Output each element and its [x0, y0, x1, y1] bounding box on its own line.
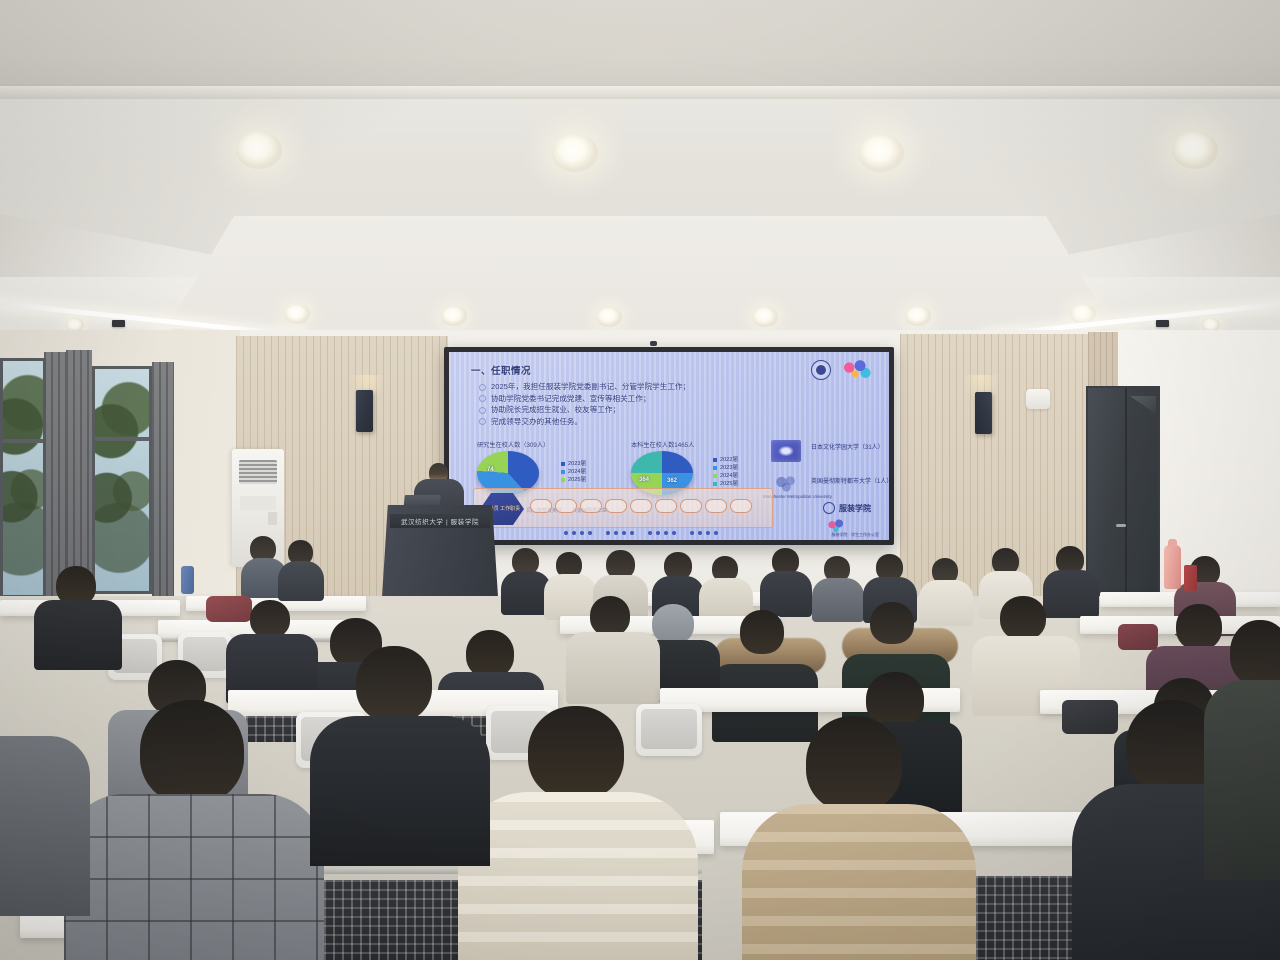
torso: [0, 736, 90, 916]
footer-chip: [555, 499, 577, 513]
track-light-head: [112, 320, 125, 327]
window-mullion: [3, 439, 43, 443]
chart-legend-undergraduate: 2022届 2023届 2024届 2025届: [713, 456, 738, 488]
partner-logo-bunka-icon: [771, 440, 801, 462]
lectern-nameplate: 武汉纺织大学 | 服装学院: [390, 514, 490, 528]
wall-speaker-left: [356, 390, 373, 432]
footer-dot-row: [564, 531, 718, 535]
head: [356, 646, 432, 722]
slide-brand: 服装学院: [823, 502, 871, 514]
ceiling-downlight: [858, 134, 904, 172]
head: [528, 706, 624, 800]
track-light-head: [1156, 320, 1169, 327]
head: [466, 630, 514, 678]
chart-undergraduate-enrollment: 本科生在校人数1465人 364 362: [631, 440, 694, 495]
screen-camera: [650, 341, 657, 346]
ceiling-downlight: [284, 304, 310, 324]
torso: [1204, 680, 1280, 880]
door-handle[interactable]: [1116, 524, 1126, 527]
footer-chip: [655, 499, 677, 513]
ceiling-upper-plane: [0, 0, 1280, 92]
legend-item: 2024届: [561, 468, 586, 476]
backpack: [206, 596, 252, 622]
ceiling-downlight: [1172, 131, 1218, 169]
footer-chip: [705, 499, 727, 513]
presentation-slide: 一、任职情况 2025年，我担任服装学院党委副书记、分管学院学生工作； 协助学院…: [449, 352, 889, 540]
slide-heading: 一、任职情况: [471, 363, 531, 377]
head: [870, 602, 914, 644]
slide-bullet: 协助学院党委书记完成党建、宣传等相关工作；: [479, 393, 809, 405]
partner-name-manchester: 英国曼彻斯特都市大学（1人）: [811, 478, 889, 487]
tote-bag: [1062, 700, 1118, 734]
torso: [1043, 570, 1099, 618]
door-top-detail: [1130, 396, 1156, 414]
torso: [812, 578, 864, 622]
slide-bullet: 2025年，我担任服装学院党委副书记、分管学院学生工作；: [479, 381, 809, 393]
chart-graduate-enrollment: 研究生在校人数（309人） 74: [477, 440, 549, 495]
footer-chip: [605, 499, 627, 513]
ceiling-downlight: [441, 306, 467, 326]
conference-room-photo: 一、任职情况 2025年，我担任服装学院党委副书记、分管学院学生工作； 协助学院…: [0, 0, 1280, 960]
pie-slice-value: 362: [667, 478, 677, 484]
ac-grille: [239, 460, 277, 484]
window-left-far: [0, 358, 46, 598]
footer-chip: [730, 499, 752, 513]
torso: [566, 632, 660, 704]
chart-title: 研究生在校人数（309人）: [477, 440, 549, 449]
slide-bullet: 完成领导交办的其他任务。: [479, 416, 809, 428]
brand-seal-icon: [823, 502, 835, 514]
torso: [919, 580, 973, 626]
ac-control-panel[interactable]: [240, 496, 276, 510]
university-seal-icon: [811, 360, 831, 380]
window-glass: [3, 361, 43, 595]
partner-name-bunka: 日本文化学园大学（31人）: [811, 444, 884, 453]
pie-slice-value: 364: [639, 477, 649, 483]
pie-slice-value: 74: [487, 467, 494, 473]
legend-item: 2025届: [713, 480, 738, 488]
ac-badge: [268, 512, 277, 525]
legend-item: 2022届: [713, 456, 738, 464]
ceiling-downlight: [596, 307, 622, 327]
head: [806, 716, 902, 812]
window-glass: [95, 369, 149, 591]
torso: [310, 716, 490, 866]
lectern-nameplate-text: 武汉纺织大学 | 服装学院: [401, 516, 479, 526]
brand-name: 服装学院: [839, 503, 871, 514]
window-left-near: [92, 366, 152, 594]
footer-chip: [530, 499, 552, 513]
torso: [64, 794, 324, 960]
chair-back-pad: [641, 709, 697, 749]
thermos-bottle: [1164, 545, 1181, 589]
head: [590, 596, 630, 636]
handbag: [1118, 624, 1158, 650]
head: [740, 610, 784, 654]
footer-chip: [630, 499, 652, 513]
ceiling-downlight: [552, 134, 598, 172]
curtain-center: [152, 362, 174, 598]
water-bottle: [181, 566, 194, 594]
footer-chip-list: [530, 499, 752, 513]
chart-title: 本科生在校人数1465人: [631, 440, 694, 449]
torso: [458, 792, 698, 960]
entry-door[interactable]: [1086, 386, 1160, 599]
red-cup: [1184, 565, 1197, 591]
head: [1000, 596, 1046, 640]
curtain-left-middle: [66, 350, 92, 602]
ceiling-downlight: [752, 307, 778, 327]
wall-mounted-box: [1026, 389, 1050, 409]
head: [250, 600, 290, 638]
window-mullion: [95, 437, 149, 441]
wall-speaker-right: [975, 392, 992, 434]
slide-footer-text: 服装学院 · 学生工作办公室: [831, 532, 879, 538]
legend-item: 2025届: [561, 476, 586, 484]
slide-bullet-list: 2025年，我担任服装学院党委副书记、分管学院学生工作； 协助学院党委书记完成党…: [479, 381, 809, 427]
torso: [34, 600, 122, 670]
legend-item: 2024届: [713, 472, 738, 480]
footer-chip: [680, 499, 702, 513]
footer-graphic-band: 辅导员 工作职责: [473, 488, 773, 528]
torso: [544, 574, 596, 620]
torso: [742, 804, 976, 960]
torso: [278, 561, 324, 601]
footer-chip: [580, 499, 602, 513]
head: [1230, 620, 1280, 686]
slide-bullet: 协助院长完成招生就业、校友等工作；: [479, 404, 809, 416]
head: [140, 700, 244, 804]
chart-legend-graduate: 2023届 2024届 2025届: [561, 460, 586, 484]
door-center-seam: [1125, 388, 1127, 597]
partner-logo-manchester-icon: [773, 474, 801, 494]
ceiling-downlight: [905, 306, 931, 326]
ceiling-recessed-slab: [168, 216, 1112, 326]
head: [652, 604, 694, 644]
ceiling-cornice: [0, 86, 1280, 100]
department-logo-icon: [839, 358, 873, 382]
legend-item: 2023届: [561, 460, 586, 468]
presentation-display: 一、任职情况 2025年，我担任服装学院党委副书记、分管学院学生工作； 协助学院…: [444, 347, 894, 545]
head: [1176, 604, 1222, 650]
legend-item: 2023届: [713, 464, 738, 472]
chair: [636, 704, 702, 756]
ceiling-downlight: [236, 131, 282, 169]
